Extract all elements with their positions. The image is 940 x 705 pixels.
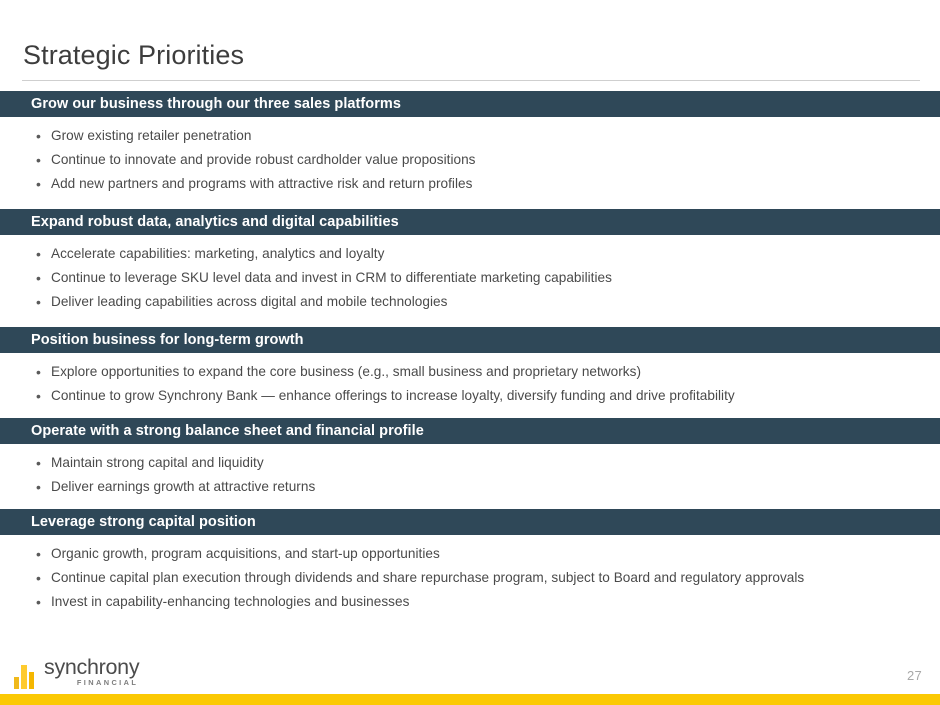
bullet-item: •Deliver earnings growth at attractive r… [0,475,940,499]
logo-subtitle: FINANCIAL [77,678,139,688]
section-spacer [0,202,940,209]
priority-section: Operate with a strong balance sheet and … [0,418,940,505]
bullet-text: Deliver leading capabilities across digi… [51,290,447,314]
bullet-text: Accelerate capabilities: marketing, anal… [51,242,384,266]
section-header-position-business-for-long-term-growth: Position business for long-term growth [0,327,940,353]
bullet-dot-icon: • [36,475,51,499]
bullet-dot-icon: • [36,148,51,172]
section-header-label: Expand robust data, analytics and digita… [31,214,399,230]
bullet-list: •Maintain strong capital and liquidity•D… [0,444,940,505]
bullet-list: •Accelerate capabilities: marketing, ana… [0,235,940,320]
page-title: Strategic Priorities [23,38,244,72]
bullet-item: •Maintain strong capital and liquidity [0,451,940,475]
bullet-text: Maintain strong capital and liquidity [51,451,264,475]
bullet-dot-icon: • [36,451,51,475]
section-header-expand-robust-data-analytics-and-digital-cap: Expand robust data, analytics and digita… [0,209,940,235]
bullet-text: Invest in capability-enhancing technolog… [51,590,409,614]
priority-section: Leverage strong capital position•Organic… [0,509,940,620]
bullet-dot-icon: • [36,266,51,290]
section-header-label: Grow our business through our three sale… [31,96,401,112]
priority-section: Expand robust data, analytics and digita… [0,209,940,320]
synchrony-bars-icon [14,665,39,689]
footer-accent-bar [0,694,940,705]
bullet-dot-icon: • [36,542,51,566]
bullet-dot-icon: • [36,590,51,614]
bullet-text: Deliver earnings growth at attractive re… [51,475,315,499]
section-header-label: Leverage strong capital position [31,514,256,530]
strategic-priorities-sections: Grow our business through our three sale… [0,91,940,620]
bullet-item: •Explore opportunities to expand the cor… [0,360,940,384]
bullet-item: •Grow existing retailer penetration [0,124,940,148]
bullet-text: Explore opportunities to expand the core… [51,360,641,384]
bullet-item: •Organic growth, program acquisitions, a… [0,542,940,566]
bullet-dot-icon: • [36,242,51,266]
bullet-item: •Accelerate capabilities: marketing, ana… [0,242,940,266]
bullet-list: •Explore opportunities to expand the cor… [0,353,940,414]
section-header-label: Operate with a strong balance sheet and … [31,423,424,439]
bullet-item: •Continue to innovate and provide robust… [0,148,940,172]
bullet-text: Continue to innovate and provide robust … [51,148,476,172]
bullet-dot-icon: • [36,360,51,384]
bullet-list: •Grow existing retailer penetration•Cont… [0,117,940,202]
synchrony-financial-logo: synchrony FINANCIAL [14,659,139,689]
section-header-grow-our-business-through-our-three-sales-pl: Grow our business through our three sale… [0,91,940,117]
bullet-item: •Continue to leverage SKU level data and… [0,266,940,290]
section-spacer [0,320,940,327]
bullet-dot-icon: • [36,172,51,196]
bullet-item: •Add new partners and programs with attr… [0,172,940,196]
page-number: 27 [907,668,922,683]
bullet-item: •Continue capital plan execution through… [0,566,940,590]
bullet-dot-icon: • [36,384,51,408]
section-header-label: Position business for long-term growth [31,332,304,348]
bullet-text: Grow existing retailer penetration [51,124,252,148]
priority-section: Grow our business through our three sale… [0,91,940,202]
slide-canvas: Strategic Priorities Grow our business t… [0,0,940,705]
bullet-item: •Deliver leading capabilities across dig… [0,290,940,314]
bullet-dot-icon: • [36,566,51,590]
bullet-text: Organic growth, program acquisitions, an… [51,542,440,566]
bullet-dot-icon: • [36,290,51,314]
bullet-item: •Invest in capability-enhancing technolo… [0,590,940,614]
bullet-list: •Organic growth, program acquisitions, a… [0,535,940,620]
section-header-leverage-strong-capital-position: Leverage strong capital position [0,509,940,535]
bullet-text: Continue to leverage SKU level data and … [51,266,612,290]
priority-section: Position business for long-term growth•E… [0,327,940,414]
logo-word: synchrony [44,657,139,678]
section-header-operate-with-a-strong-balance-sheet-and-fina: Operate with a strong balance sheet and … [0,418,940,444]
bullet-item: •Continue to grow Synchrony Bank — enhan… [0,384,940,408]
bullet-text: Continue capital plan execution through … [51,566,804,590]
logo-wordmark: synchrony FINANCIAL [44,657,139,689]
bullet-dot-icon: • [36,124,51,148]
bullet-text: Continue to grow Synchrony Bank — enhanc… [51,384,735,408]
title-divider [22,80,920,81]
bullet-text: Add new partners and programs with attra… [51,172,472,196]
